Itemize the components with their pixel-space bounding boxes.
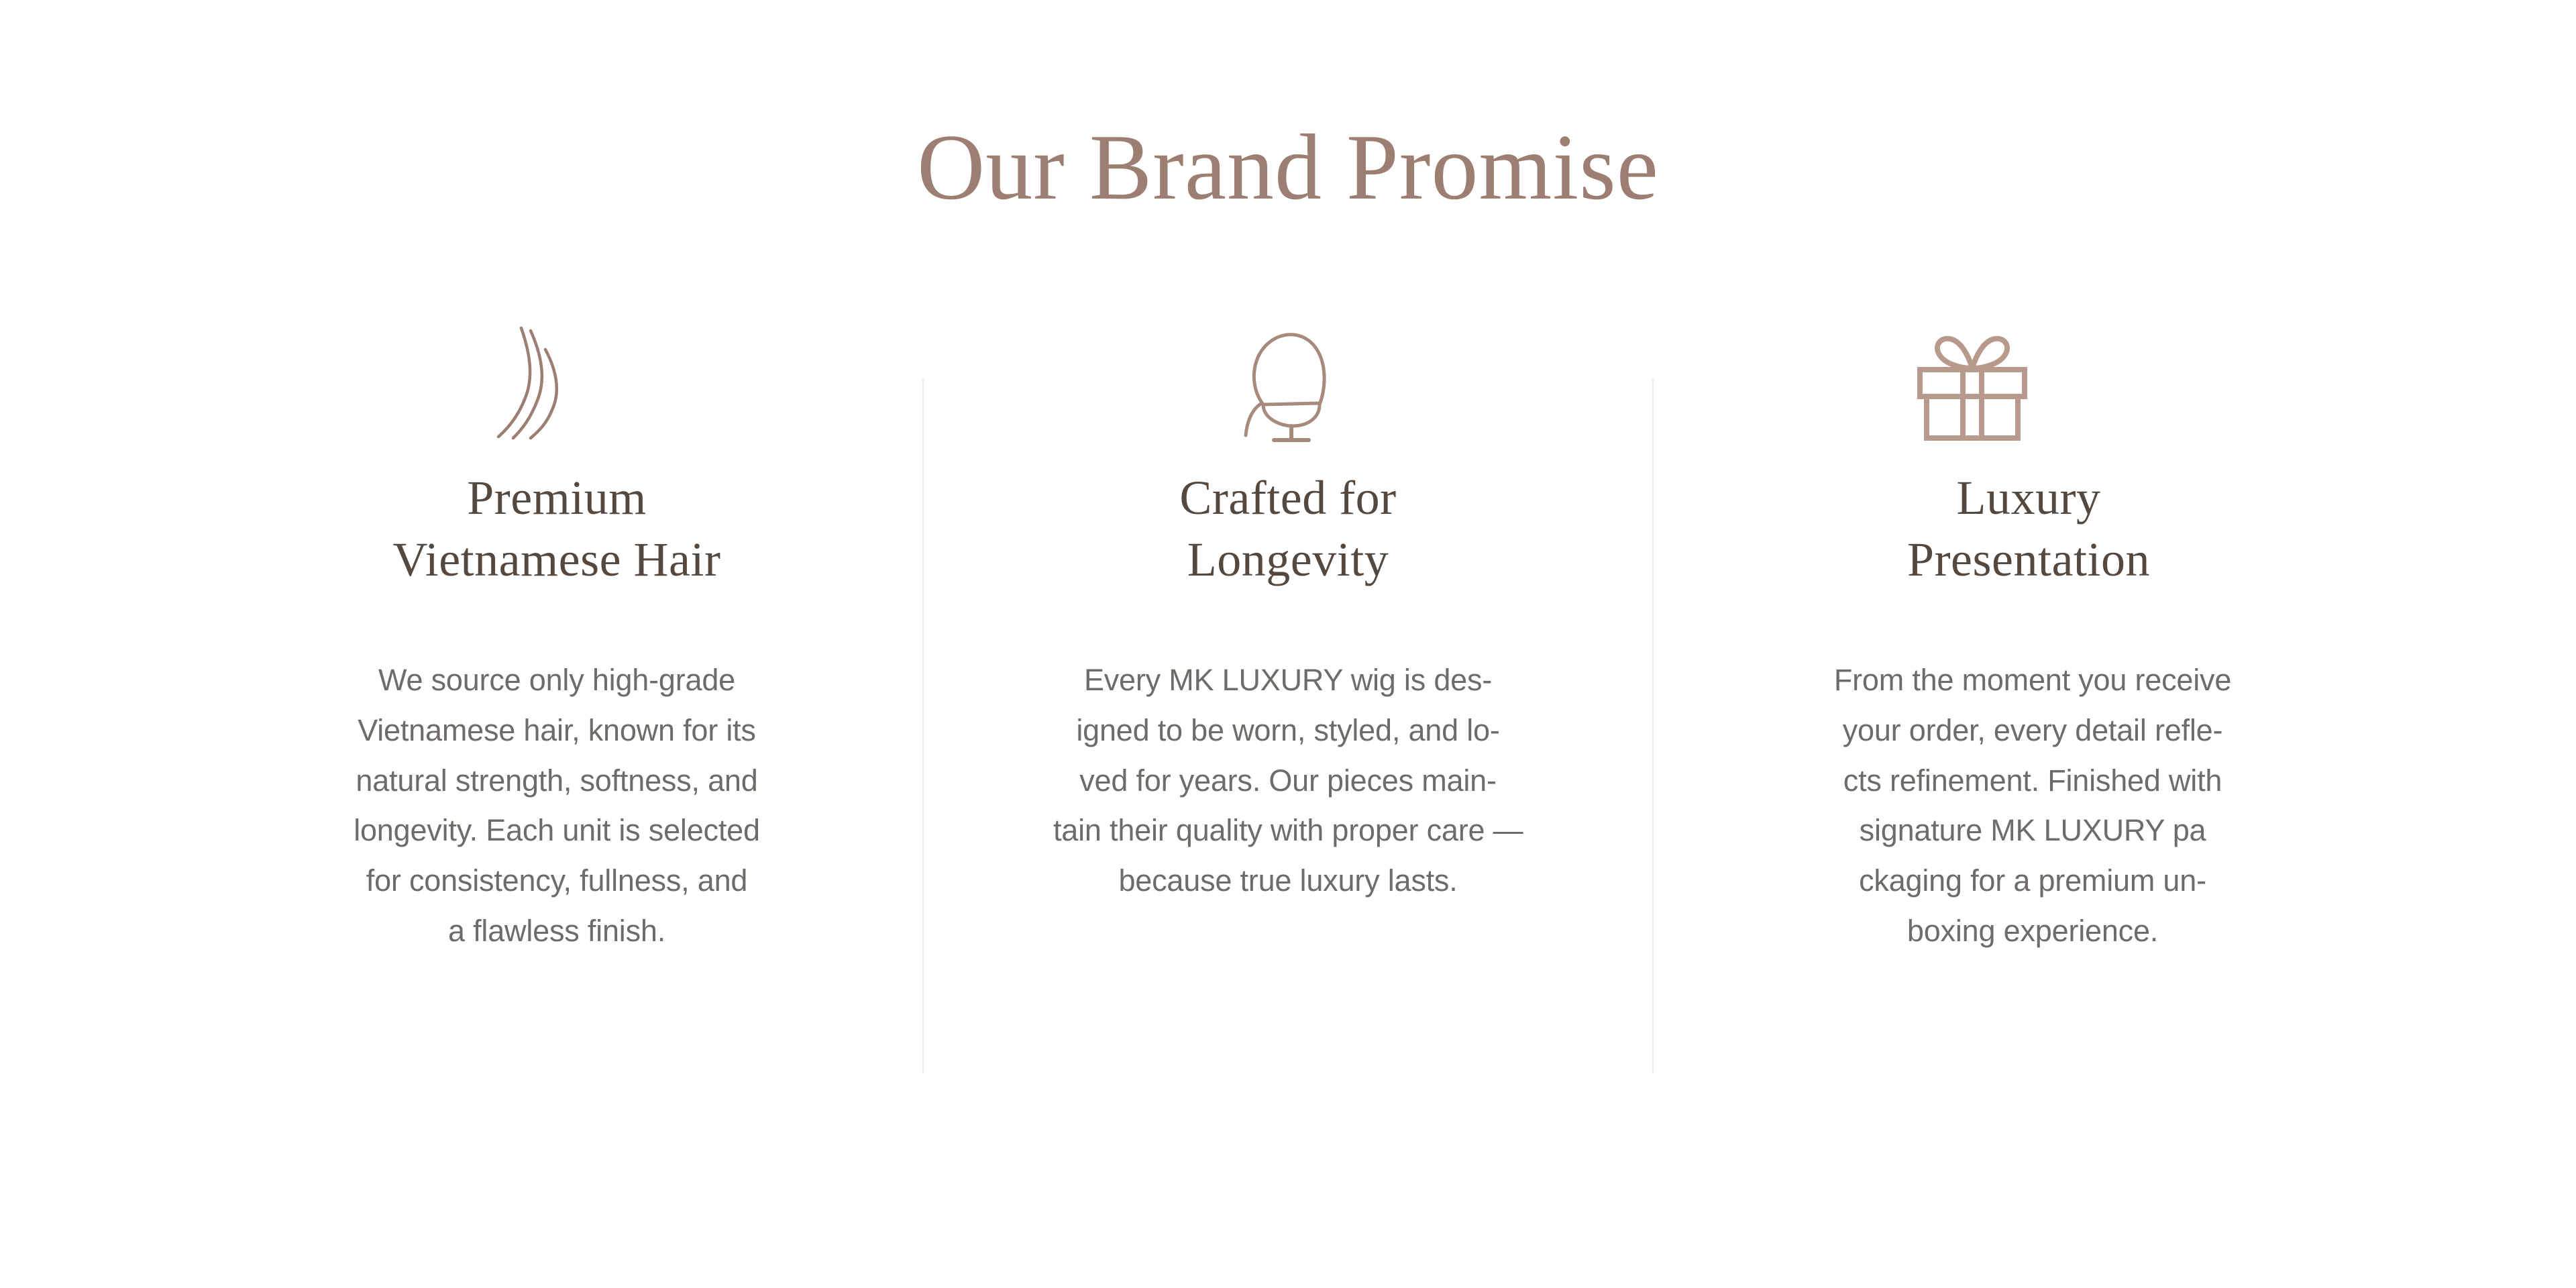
body-line: We source only high-grade xyxy=(322,655,792,706)
promise-title-line: Premium xyxy=(467,471,647,525)
wig-mannequin-stand-icon xyxy=(1214,322,1362,443)
body-line: because true luxury lasts. xyxy=(1053,856,1523,906)
body-line: longevity. Each unit is selected xyxy=(322,806,792,856)
body-line: ved for years. Our pieces main- xyxy=(1053,756,1523,806)
promise-card-premium-vietnamese-hair: PremiumVietnamese Hair We source only hi… xyxy=(191,322,922,986)
column-divider xyxy=(922,379,924,1073)
body-line: your order, every detail refle- xyxy=(1798,706,2267,756)
promise-card-body: Every MK LUXURY wig is des- igned to be … xyxy=(1053,655,1523,906)
body-line: tain their quality with proper care — xyxy=(1053,806,1523,856)
promise-title-line: Longevity xyxy=(1187,533,1389,586)
promise-columns-grid: PremiumVietnamese Hair We source only hi… xyxy=(0,322,2576,1087)
body-line: igned to be worn, styled, and lo- xyxy=(1053,706,1523,756)
body-line: natural strength, softness, and xyxy=(322,756,792,806)
body-line: cts refinement. Finished with xyxy=(1798,756,2267,806)
brand-promise-section: { "section": { "heading": "Our Brand Pro… xyxy=(0,0,2576,1288)
promise-card-title: Crafted forLongevity xyxy=(1179,467,1396,590)
promise-title-line: Presentation xyxy=(1907,533,2150,586)
body-line: Vietnamese hair, known for its xyxy=(322,706,792,756)
body-line: for consistency, fullness, and xyxy=(322,856,792,906)
promise-card-title: PremiumVietnamese Hair xyxy=(393,467,721,590)
promise-card-title: LuxuryPresentation xyxy=(1907,467,2150,590)
body-line: a flawless finish. xyxy=(322,906,792,957)
body-line: signature MK LUXURY pa xyxy=(1798,806,2267,856)
promise-card-crafted-for-longevity: Crafted forLongevity Every MK LUXURY wig… xyxy=(922,322,1654,936)
promise-title-line: Vietnamese Hair xyxy=(393,533,721,586)
body-line: ckaging for a premium un- xyxy=(1798,856,2267,906)
promise-title-line: Crafted for xyxy=(1179,471,1396,525)
body-line: Every MK LUXURY wig is des- xyxy=(1053,655,1523,706)
promise-card-luxury-presentation: LuxuryPresentation From the moment you r… xyxy=(1654,322,2385,986)
body-line: boxing experience. xyxy=(1798,906,2267,957)
promise-title-line: Luxury xyxy=(1957,471,2101,525)
promise-card-body: We source only high-grade Vietnamese hai… xyxy=(322,655,792,956)
promise-card-body: From the moment you receive your order, … xyxy=(1798,655,2267,956)
page-title: Our Brand Promise xyxy=(0,121,2576,215)
hair-strands-icon xyxy=(471,322,619,443)
gift-box-icon xyxy=(1898,322,2046,443)
body-line: From the moment you receive xyxy=(1798,655,2267,706)
